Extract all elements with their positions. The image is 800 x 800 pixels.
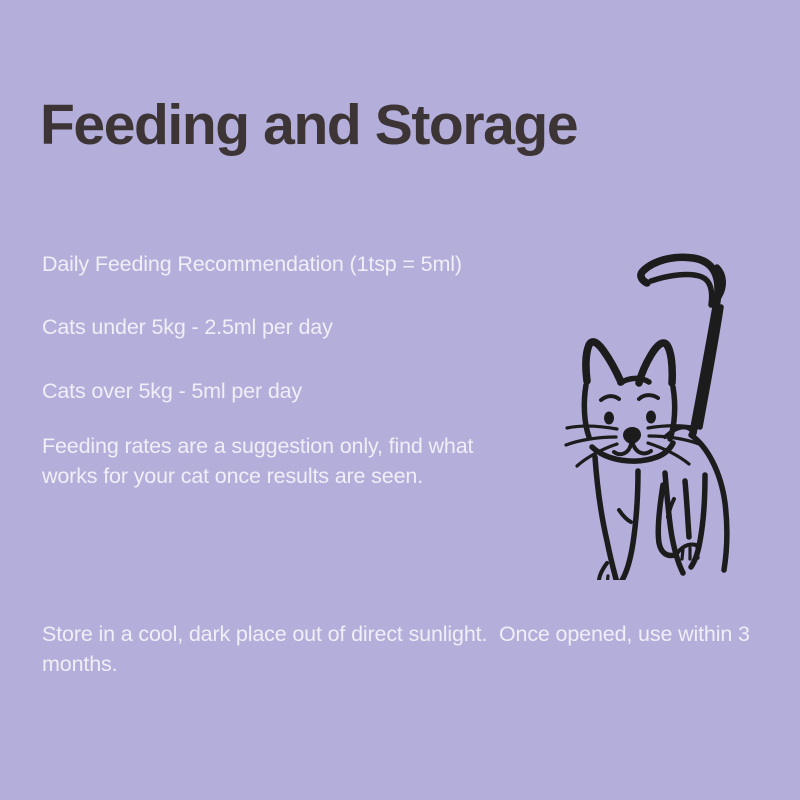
cat-illustration <box>545 185 780 580</box>
daily-feeding-heading: Daily Feeding Recommendation (1tsp = 5ml… <box>42 250 542 278</box>
page-title: Feeding and Storage <box>40 95 577 157</box>
cat-line-drawing-svg <box>545 185 780 580</box>
feeding-and-storage-card: Feeding and Storage Daily Feeding Recomm… <box>0 0 800 800</box>
dose-cats-over-5kg: Cats over 5kg - 5ml per day <box>42 377 542 405</box>
feeding-section: Daily Feeding Recommendation (1tsp = 5ml… <box>42 250 542 491</box>
storage-section: Store in a cool, dark place out of direc… <box>42 620 757 679</box>
storage-instructions: Store in a cool, dark place out of direc… <box>42 620 757 679</box>
dose-cats-under-5kg: Cats under 5kg - 2.5ml per day <box>42 313 542 341</box>
feeding-rates-note: Feeding rates are a suggestion only, fin… <box>42 432 497 491</box>
